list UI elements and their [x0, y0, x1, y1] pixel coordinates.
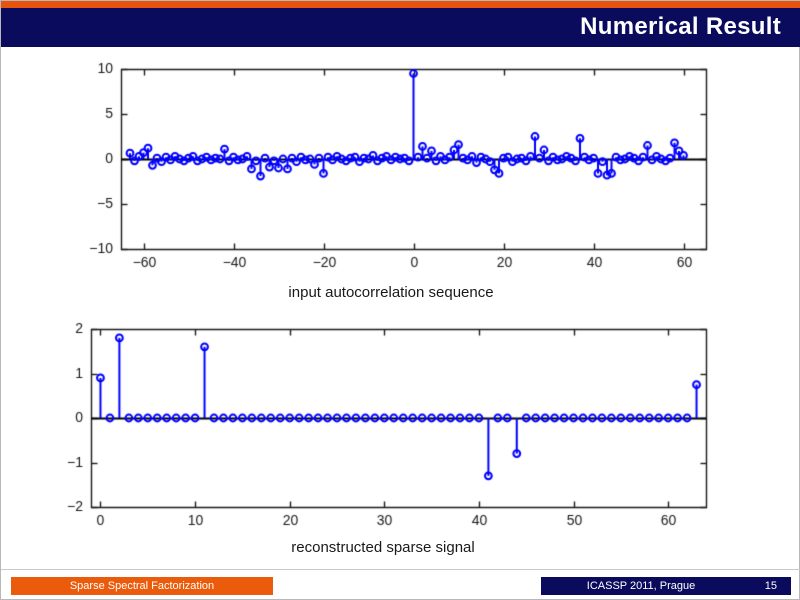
- footer-talk-title: Sparse Spectral Factorization: [11, 577, 273, 595]
- chart-canvas-top: [61, 59, 721, 281]
- chart-xlabel-top: input autocorrelation sequence: [61, 284, 721, 301]
- page-title: Numerical Result: [580, 13, 781, 41]
- header-accent-bar: [1, 1, 800, 8]
- footer-divider: [1, 569, 800, 570]
- chart-reconstructed-sparse-signal: [45, 319, 721, 537]
- slide: Numerical Result input autocorrelation s…: [0, 0, 800, 600]
- footer-page-number: 15: [765, 577, 777, 595]
- chart-input-autocorrelation: [61, 59, 721, 281]
- chart-canvas-bottom: [45, 319, 721, 537]
- chart-xlabel-bottom: reconstructed sparse signal: [45, 539, 721, 556]
- footer-conference: ICASSP 2011, Prague: [541, 577, 741, 595]
- footer-right-block: ICASSP 2011, Prague 15: [541, 577, 791, 595]
